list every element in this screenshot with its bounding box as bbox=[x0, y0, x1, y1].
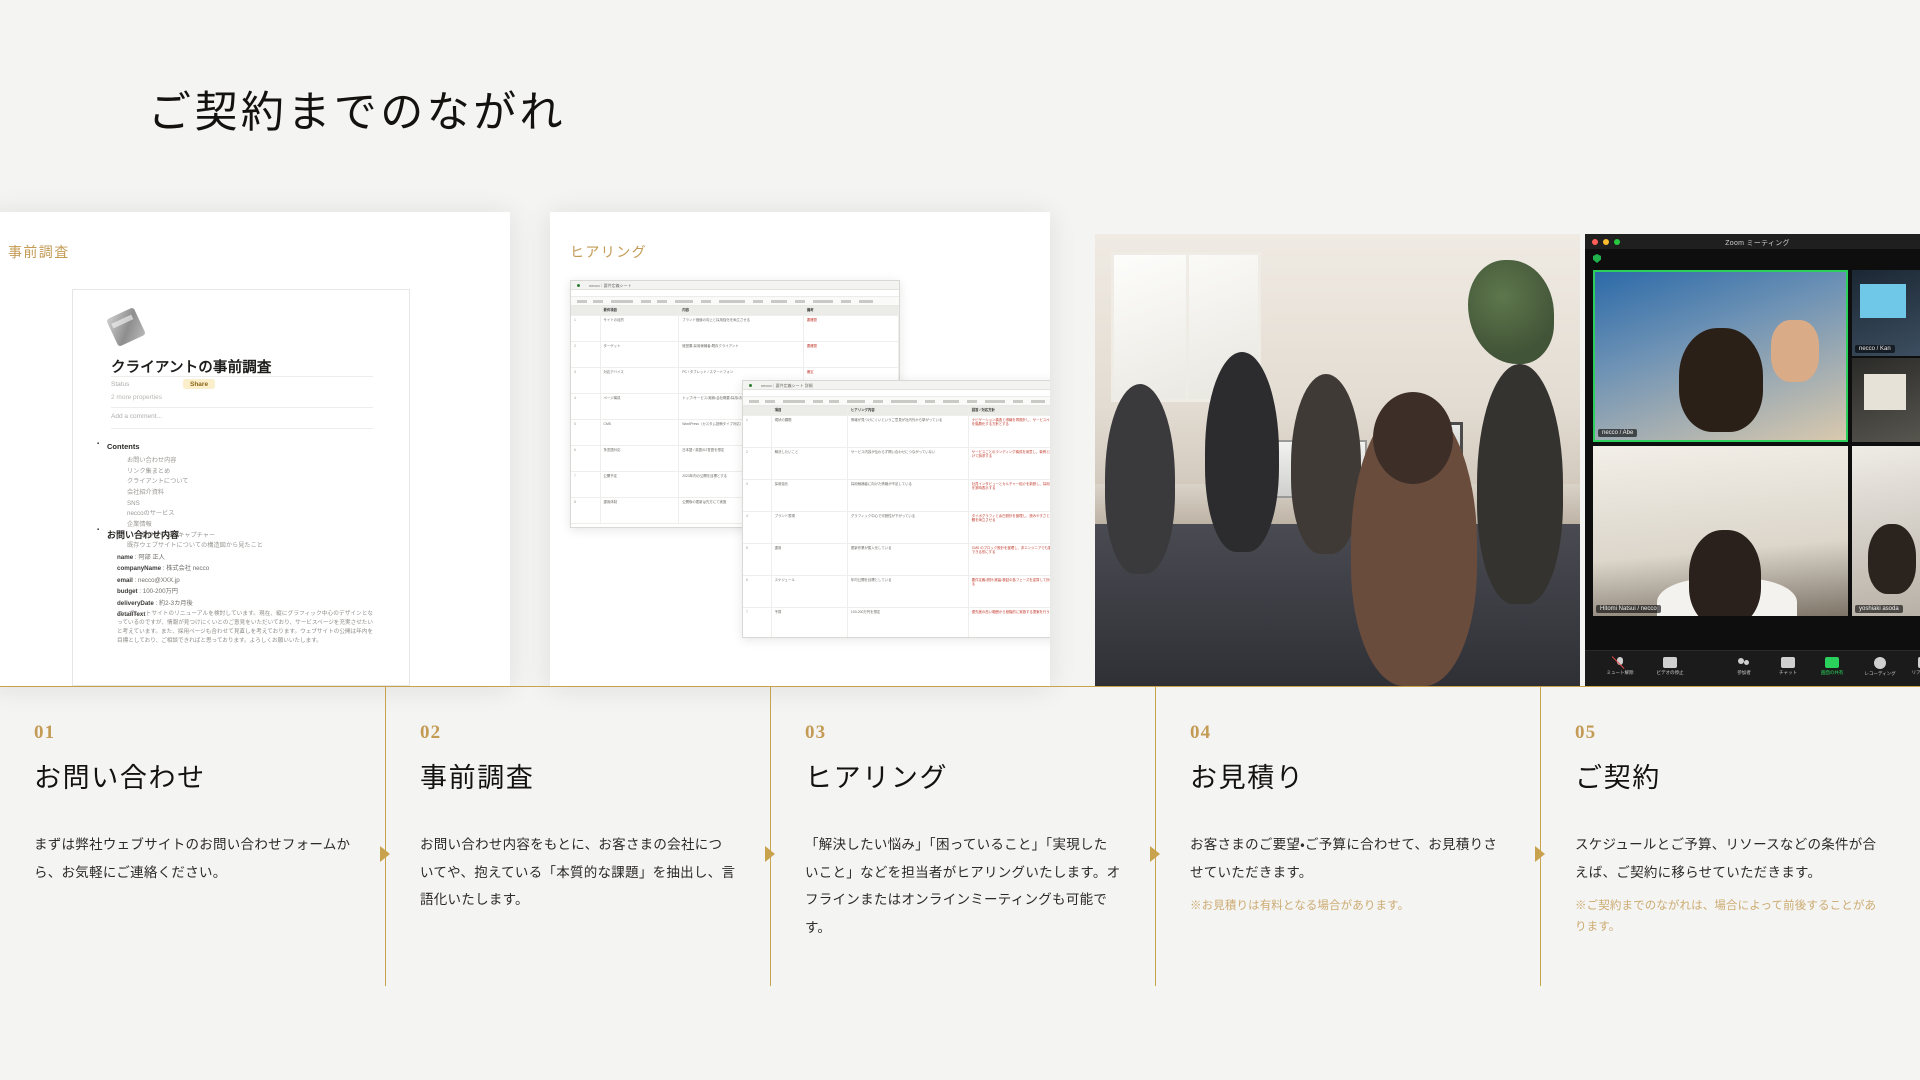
step-02: 02 事前調査 お問い合わせ内容をもとに、お客さまの会社についてや、抱えている「… bbox=[385, 686, 770, 986]
table-row[interactable]: 2 ターゲット 経営層・採用候補者・既存クライアント 要確認 bbox=[571, 342, 899, 368]
participant-silhouette bbox=[1679, 328, 1763, 432]
table-cell: ブランド表現 bbox=[772, 512, 848, 543]
table-cell: 7 bbox=[743, 608, 772, 638]
zoom-share-screen-button[interactable]: 画面の共有 bbox=[1811, 657, 1853, 676]
step-note: ※ご契約までのながれは、場合によって前後することがあります。 bbox=[1575, 896, 1886, 937]
photo-person bbox=[1477, 364, 1563, 604]
field-value: 約2-3カ月後 bbox=[159, 600, 193, 607]
table-cell: 採用強化 bbox=[772, 480, 848, 511]
zoom-button-label: チャット bbox=[1769, 670, 1807, 676]
field-value: 100-200万円 bbox=[143, 588, 178, 595]
table-cell: 4 bbox=[571, 394, 601, 419]
list-item: budget : 100-200万円 bbox=[117, 586, 373, 597]
list-item[interactable]: SNS bbox=[127, 499, 377, 510]
document-title: クライアントの事前調査 bbox=[111, 356, 272, 377]
step-01: 01 お問い合わせ まずは弊社ウェブサイトのお問い合わせフォームから、お気軽にご… bbox=[0, 686, 385, 986]
spreadsheet-toolbar[interactable] bbox=[571, 297, 899, 306]
participant-name: Hitomi Natsui / necco bbox=[1596, 605, 1661, 613]
table-cell: 5 bbox=[571, 420, 601, 445]
photo-person bbox=[1351, 402, 1477, 686]
zoom-participant-tile[interactable]: necco / Kan bbox=[1852, 270, 1920, 356]
table-cell: サービスごとのランディング構成を用意し、事例と紐づけて訴求する bbox=[969, 448, 1050, 479]
table-cell: 経営層・採用候補者・既存クライアント bbox=[679, 342, 804, 367]
field-value: 株式会社 necco bbox=[166, 565, 209, 572]
step-title: 事前調査 bbox=[420, 756, 736, 795]
table-cell: 6 bbox=[743, 576, 772, 607]
table-cell: 公開予定 bbox=[601, 472, 680, 497]
step-number: 04 bbox=[1190, 722, 1506, 744]
column-header bbox=[571, 306, 601, 315]
zoom-button-label: リアクション bbox=[1907, 670, 1920, 676]
step-description: まずは弊社ウェブサイトのお問い合わせフォームから、お気軽にご連絡ください。 bbox=[34, 831, 351, 886]
divider bbox=[111, 428, 373, 429]
column-header: 回答 / 対応方針 bbox=[969, 406, 1050, 415]
zoom-button-label: レコーディング bbox=[1857, 671, 1903, 677]
zoom-button-label: 参加者 bbox=[1725, 670, 1763, 676]
spreadsheet-title: necco｜要件定義シート 詳細 bbox=[761, 383, 813, 389]
table-cell: 4 bbox=[743, 512, 772, 543]
record-icon bbox=[1874, 657, 1886, 669]
field-value: 阿部 正人 bbox=[138, 554, 164, 561]
table-cell: ブランド価値の向上と採用強化を両立させる bbox=[679, 316, 804, 341]
table-cell: 5 bbox=[743, 544, 772, 575]
list-item[interactable]: お問い合わせ内容 bbox=[127, 456, 377, 467]
table-cell: 運用体制 bbox=[601, 498, 680, 523]
spreadsheet-title: necco｜要件定義シート bbox=[589, 283, 632, 289]
participant-name: necco / Kan bbox=[1855, 345, 1895, 353]
document-inquiry-heading: お問い合わせ内容 bbox=[107, 528, 179, 541]
media-card-hearing: ヒアリング necco｜要件定義シート 要件項目 bbox=[550, 212, 1050, 686]
zoom-toolbar: ミュート解除 ビデオの停止 参加者 チャット bbox=[1585, 650, 1920, 686]
table-cell: 6 bbox=[571, 446, 601, 471]
field-value: necco@XXX.jp bbox=[138, 577, 180, 584]
step-arrow-icon bbox=[380, 846, 390, 862]
shield-icon[interactable] bbox=[1593, 254, 1601, 263]
table-cell: CMS bbox=[601, 420, 680, 445]
table-cell: ターゲット bbox=[601, 342, 680, 367]
spreadsheet-toolbar[interactable] bbox=[743, 397, 1050, 406]
table-row[interactable]: 1 現状の課題 情報が見つけにくいというご意見が社内外から挙がっている ナビゲー… bbox=[743, 416, 1050, 448]
table-cell: ページ構成 bbox=[601, 394, 680, 419]
table-cell: スケジュール bbox=[772, 576, 848, 607]
zoom-record-button[interactable]: レコーディング bbox=[1857, 657, 1903, 677]
steps-section: 01 お問い合わせ まずは弊社ウェブサイトのお問い合わせフォームから、お気軽にご… bbox=[0, 686, 1920, 986]
list-item[interactable]: 既存ウェブサイトについての構造図から見たこと bbox=[127, 541, 377, 552]
spreadsheet-menubar[interactable] bbox=[571, 290, 899, 297]
document-status-badge[interactable]: Share bbox=[183, 379, 215, 389]
microphone-muted-icon bbox=[1613, 657, 1627, 668]
table-cell: 現状の課題 bbox=[772, 416, 848, 447]
sheet-status-icon bbox=[577, 284, 580, 287]
step-number: 01 bbox=[34, 722, 351, 744]
table-row[interactable]: 2 解決したいこと サービス内容が伝わらず問い合わせにつながっていない サービス… bbox=[743, 448, 1050, 480]
step-description: お問い合わせ内容をもとに、お客さまの会社についてや、抱えている「本質的な課題」を… bbox=[420, 831, 736, 914]
list-item: name : 阿部 正人 bbox=[117, 552, 373, 563]
step-description: スケジュールとご予算、リソースなどの条件が合えば、ご契約に移らせていただきます。 bbox=[1575, 831, 1886, 886]
spreadsheet-mock-front: necco｜要件定義シート 詳細 項目 ヒアリング内容 回答 / 対応方針 bbox=[742, 380, 1050, 638]
table-cell: 2 bbox=[571, 342, 601, 367]
zoom-video-grid: necco / Abe necco / Kan Hitomi Natsui / … bbox=[1585, 270, 1920, 632]
share-screen-icon bbox=[1825, 657, 1839, 668]
table-header-row: 項目 ヒアリング内容 回答 / 対応方針 bbox=[743, 406, 1050, 416]
spreadsheet-titlebar: necco｜要件定義シート bbox=[571, 281, 899, 290]
spreadsheet-menubar[interactable] bbox=[743, 390, 1050, 397]
table-row[interactable]: 4 ブランド表現 グラフィック中心で可読性が下がっている タイポグラフィと余白設… bbox=[743, 512, 1050, 544]
zoom-button-label: ミュート解除 bbox=[1597, 670, 1643, 676]
step-number: 03 bbox=[805, 722, 1121, 744]
table-cell: 100-200万円を想定 bbox=[848, 608, 969, 638]
table-cell: 優先度の高い範囲から段階的に実施する提案を行う bbox=[969, 608, 1050, 638]
table-cell: 社員インタビューとカルチャー紹介を新設し、採用導線を常時表示する bbox=[969, 480, 1050, 511]
participants-icon bbox=[1737, 657, 1751, 668]
table-cell: 要確認 bbox=[804, 342, 899, 367]
zoom-meeting-window: Zoom ミーティング necco / Abe necco / Kan bbox=[1585, 234, 1920, 686]
table-cell: 運用 bbox=[772, 544, 848, 575]
media-card-label-research: 事前調査 bbox=[8, 242, 70, 262]
table-cell: 1 bbox=[743, 416, 772, 447]
document-status-label: Status bbox=[111, 381, 129, 388]
table-row[interactable]: 6 スケジュール 年内公開を目標としている 要件定義・設計・実装・検証の各フェー… bbox=[743, 576, 1050, 608]
list-item: deliveryDate : 約2-3カ月後 bbox=[117, 598, 373, 609]
field-key: deliveryDate bbox=[117, 600, 154, 607]
table-cell: 要件定義・設計・実装・検証の各フェーズを逆算して計画する bbox=[969, 576, 1050, 607]
table-cell: 情報が見つけにくいというご意見が社内外から挙がっている bbox=[848, 416, 969, 447]
table-cell: 2 bbox=[743, 448, 772, 479]
spreadsheet-titlebar: necco｜要件定義シート 詳細 bbox=[743, 381, 1050, 390]
table-cell: サービス内容が伝わらず問い合わせにつながっていない bbox=[848, 448, 969, 479]
participant-name: necco / Abe bbox=[1598, 429, 1637, 437]
table-cell: 要確認 bbox=[804, 316, 899, 341]
zoom-participant-tile[interactable] bbox=[1852, 358, 1920, 442]
step-title: ヒアリング bbox=[805, 756, 1121, 795]
document-comment-input[interactable]: Add a comment... bbox=[111, 413, 162, 420]
media-card-meeting: オフライン / オンラインミーティング bbox=[1095, 212, 1920, 686]
list-item[interactable]: neccoのサービス bbox=[127, 509, 377, 520]
photo-person bbox=[1205, 352, 1279, 552]
office-meeting-photo bbox=[1095, 234, 1580, 686]
zoom-button-label: ビデオの停止 bbox=[1647, 670, 1693, 676]
zoom-reactions-button[interactable]: リアクション bbox=[1907, 657, 1920, 676]
field-key: budget bbox=[117, 588, 138, 595]
column-header: 要件項目 bbox=[601, 306, 680, 315]
column-header: 備考 bbox=[804, 306, 899, 315]
step-arrow-icon bbox=[765, 846, 775, 862]
list-item[interactable]: クライアントについて bbox=[127, 477, 377, 488]
step-03: 03 ヒアリング 「解決したい悩み」「困っていること」「実現したいこと」などを担… bbox=[770, 686, 1155, 986]
column-header: 項目 bbox=[772, 406, 848, 415]
zoom-participants-button[interactable]: 参加者 bbox=[1725, 657, 1763, 676]
table-row[interactable]: 1 サイトの目的 ブランド価値の向上と採用強化を両立させる 要確認 bbox=[571, 316, 899, 342]
step-title: お問い合わせ bbox=[34, 756, 351, 795]
column-header: ヒアリング内容 bbox=[848, 406, 969, 415]
step-title: お見積り bbox=[1190, 756, 1506, 795]
field-key: companyName bbox=[117, 565, 161, 572]
step-arrow-icon bbox=[1535, 846, 1545, 862]
sheet-status-icon bbox=[749, 384, 752, 387]
table-cell: 解決したいこと bbox=[772, 448, 848, 479]
zoom-window-title: Zoom ミーティング bbox=[1585, 238, 1920, 248]
divider bbox=[111, 376, 373, 377]
participant-hand bbox=[1771, 320, 1819, 382]
table-cell: 予算 bbox=[772, 608, 848, 638]
participant-screen bbox=[1860, 284, 1906, 318]
document-properties-toggle[interactable]: 2 more properties bbox=[111, 394, 162, 401]
document-toc-heading: Contents bbox=[107, 442, 140, 451]
participant-screen bbox=[1864, 374, 1906, 410]
zoom-chat-button[interactable]: チャット bbox=[1769, 657, 1807, 676]
table-cell: CMS のブロック設計を整理し、非エンジニアでも更新できる形にする bbox=[969, 544, 1050, 575]
table-cell: 年内公開を目標としている bbox=[848, 576, 969, 607]
notion-document-mock: クライアントの事前調査 Status Share 2 more properti… bbox=[72, 289, 410, 686]
table-cell: 8 bbox=[571, 498, 601, 523]
chat-bubble-icon bbox=[1781, 657, 1795, 668]
list-item[interactable]: 会社紹介資料 bbox=[127, 488, 377, 499]
table-cell: 1 bbox=[571, 316, 601, 341]
media-strip: 事前調査 クライアントの事前調査 Status Share 2 more pro… bbox=[0, 212, 1920, 686]
table-cell: 3 bbox=[743, 480, 772, 511]
flow-page: ご契約までのながれ 事前調査 クライアントの事前調査 Status Share … bbox=[0, 0, 1920, 1080]
table-cell: ナビゲーション構造と導線を再設計し、サービスページを階層化する方針とする bbox=[969, 416, 1050, 447]
participant-silhouette bbox=[1689, 530, 1761, 616]
field-key: name bbox=[117, 554, 133, 561]
step-description: お客さまのご要望・ご予算に合わせて、お見積りさせていただきます。 bbox=[1190, 831, 1506, 886]
table-cell: 更新作業が属人化している bbox=[848, 544, 969, 575]
step-number: 02 bbox=[420, 722, 736, 744]
participant-silhouette bbox=[1868, 524, 1916, 594]
document-body-text: コーポレートサイトのリニューアルを検討しています。現在、縦にグラフィック中心のデ… bbox=[117, 610, 373, 646]
table-cell: 7 bbox=[571, 472, 601, 497]
spreadsheet-grid-front[interactable]: 項目 ヒアリング内容 回答 / 対応方針 1 現状の課題 情報が見つけにくいとい… bbox=[743, 406, 1050, 637]
media-card-research: 事前調査 クライアントの事前調査 Status Share 2 more pro… bbox=[0, 212, 510, 686]
column-header: 内容 bbox=[679, 306, 804, 315]
list-item[interactable]: リンク集まとめ bbox=[127, 467, 377, 478]
document-emoji-icon bbox=[106, 307, 146, 347]
field-key: email bbox=[117, 577, 133, 584]
participant-name: yoshiaki asoda bbox=[1855, 605, 1903, 613]
step-number: 05 bbox=[1575, 722, 1886, 744]
column-header bbox=[743, 406, 772, 415]
zoom-titlebar: Zoom ミーティング bbox=[1585, 234, 1920, 249]
zoom-participant-tile[interactable]: necco / Abe bbox=[1593, 270, 1848, 442]
list-item: email : necco@XXX.jp bbox=[117, 575, 373, 586]
table-cell: 多言語対応 bbox=[601, 446, 680, 471]
table-row[interactable]: 7 予算 100-200万円を想定 優先度の高い範囲から段階的に実施する提案を行… bbox=[743, 608, 1050, 638]
zoom-participant-tile[interactable]: Hitomi Natsui / necco bbox=[1593, 446, 1848, 616]
divider bbox=[111, 407, 373, 408]
step-title: ご契約 bbox=[1575, 756, 1886, 795]
table-cell: サイトの目的 bbox=[601, 316, 680, 341]
zoom-button-label: 画面の共有 bbox=[1811, 670, 1853, 676]
step-note: ※お見積りは有料となる場合があります。 bbox=[1190, 896, 1506, 917]
table-row[interactable]: 5 運用 更新作業が属人化している CMS のブロック設計を整理し、非エンジニア… bbox=[743, 544, 1050, 576]
table-cell: タイポグラフィと余白設計を整理し、読みやすさと世界観を両立させる bbox=[969, 512, 1050, 543]
table-header-row: 要件項目 内容 備考 bbox=[571, 306, 899, 316]
table-row[interactable]: 3 採用強化 採用候補者に向けた情報が不足している 社員インタビューとカルチャー… bbox=[743, 480, 1050, 512]
step-description: 「解決したい悩み」「困っていること」「実現したいこと」などを担当者がヒアリングい… bbox=[805, 831, 1121, 942]
step-04: 04 お見積り お客さまのご要望・ご予算に合わせて、お見積りさせていただきます。… bbox=[1155, 686, 1540, 986]
table-cell: 対応デバイス bbox=[601, 368, 680, 393]
zoom-mute-button[interactable]: ミュート解除 bbox=[1597, 657, 1643, 676]
step-05: 05 ご契約 スケジュールとご予算、リソースなどの条件が合えば、ご契約に移らせて… bbox=[1540, 686, 1920, 986]
zoom-video-button[interactable]: ビデオの停止 bbox=[1647, 657, 1693, 676]
table-cell: グラフィック中心で可読性が下がっている bbox=[848, 512, 969, 543]
list-item: companyName : 株式会社 necco bbox=[117, 563, 373, 574]
media-card-label-hearing: ヒアリング bbox=[570, 242, 647, 262]
photo-person bbox=[1105, 384, 1175, 574]
zoom-participant-tile[interactable]: yoshiaki asoda bbox=[1852, 446, 1920, 616]
video-camera-icon bbox=[1663, 657, 1677, 668]
page-title: ご契約までのながれ bbox=[148, 78, 566, 140]
step-arrow-icon bbox=[1150, 846, 1160, 862]
table-cell: 採用候補者に向けた情報が不足している bbox=[848, 480, 969, 511]
table-cell: 3 bbox=[571, 368, 601, 393]
